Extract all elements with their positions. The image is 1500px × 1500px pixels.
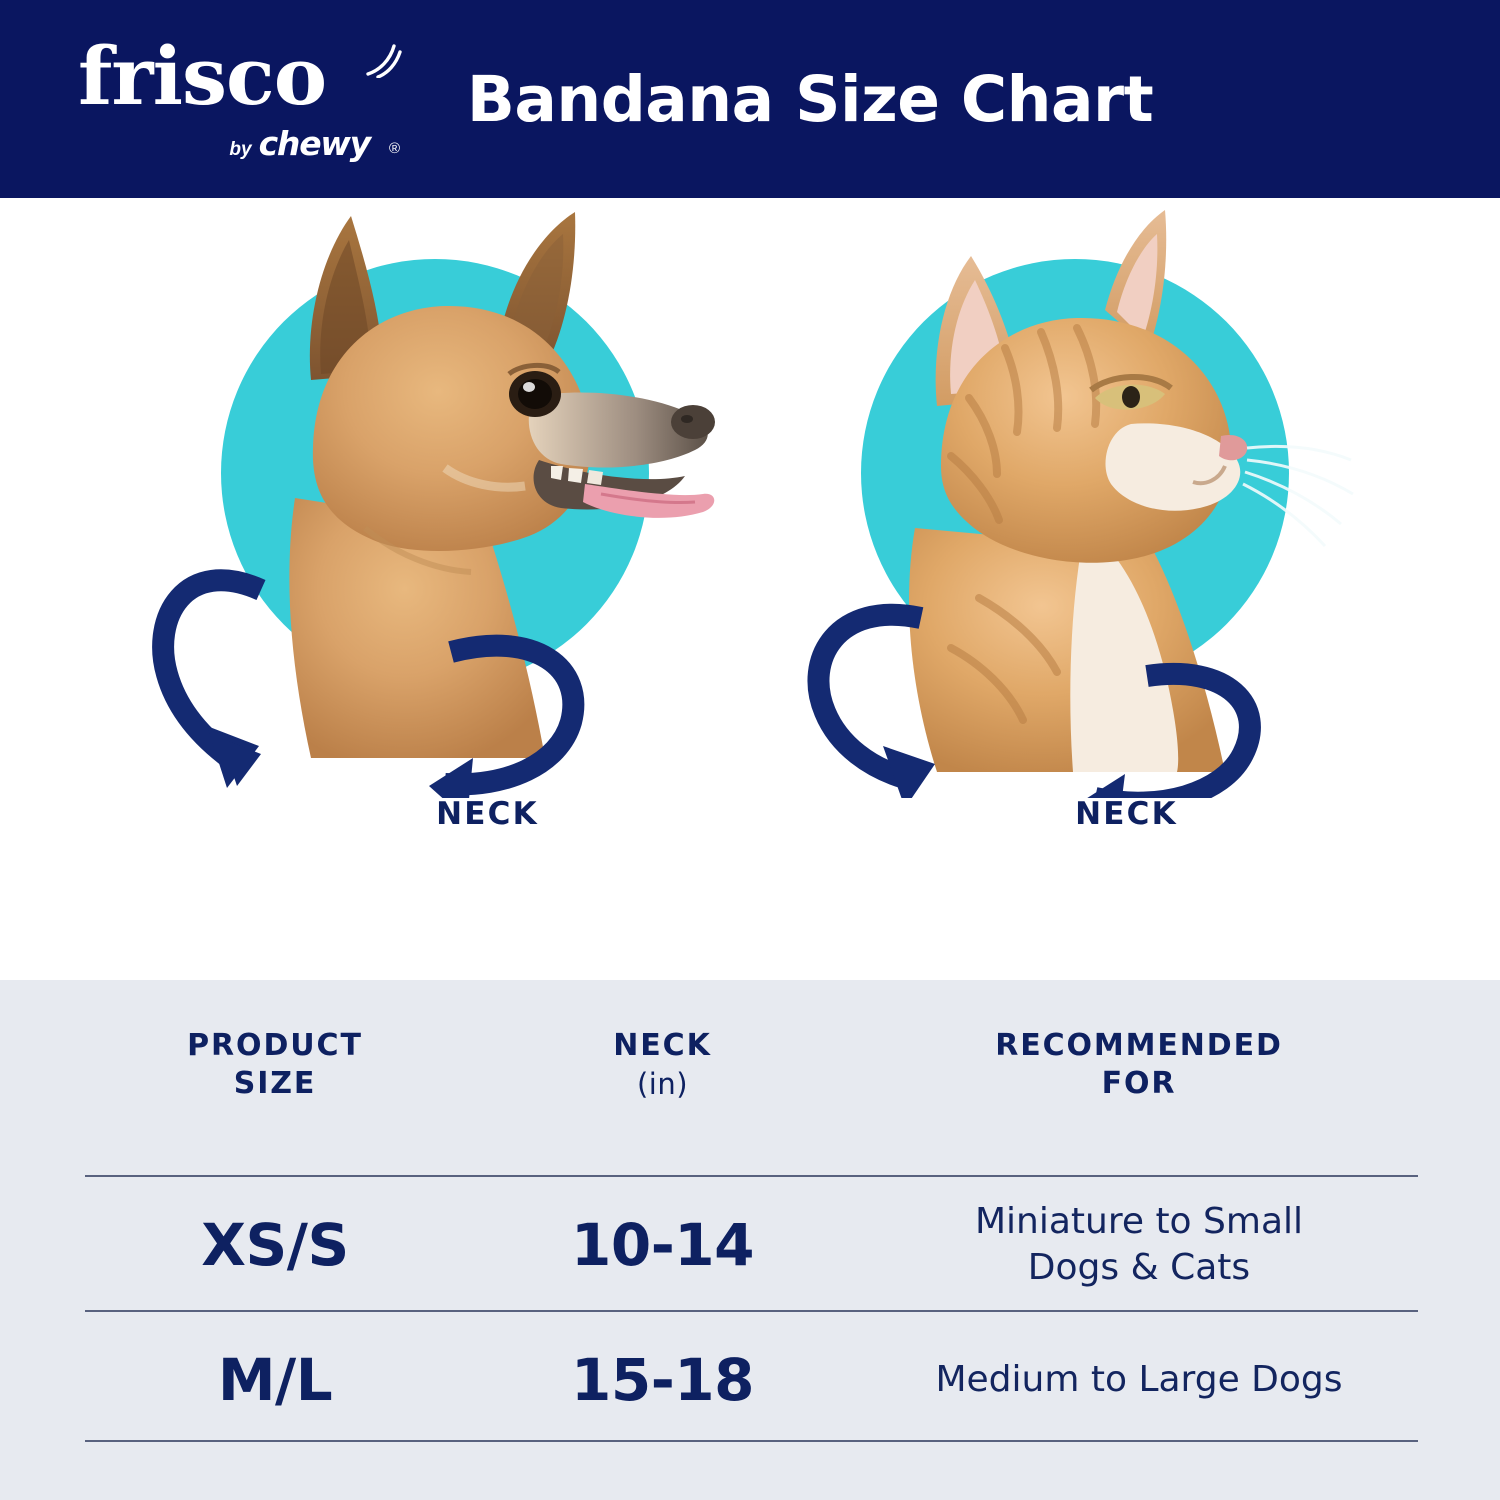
page-header: frisco ® by chewy Bandana Size Chart: [0, 0, 1500, 198]
cell-recommended-for-line1: Medium to Large Dogs: [935, 1357, 1342, 1403]
table-row: XS/S 10-14 Miniature to Small Dogs & Cat…: [0, 1185, 1500, 1305]
cat-stage: [755, 198, 1395, 798]
table-divider-top: [85, 1175, 1418, 1177]
dog-stage: [115, 198, 755, 798]
column-header-recommended-for-line2: FOR: [1102, 1065, 1177, 1103]
column-header-neck-unit: (in): [637, 1066, 688, 1103]
table-divider-middle: [85, 1310, 1418, 1312]
column-header-neck-line1: NECK: [613, 1027, 711, 1065]
illustration-area: NECK: [0, 198, 1500, 980]
cat-measure-arrowhead-front: [1081, 774, 1125, 798]
column-header-recommended-for-line1: RECOMMENDED: [995, 1027, 1283, 1065]
cell-neck-range: 10-14: [465, 1185, 860, 1305]
cell-neck-range: 15-18: [465, 1320, 860, 1440]
cell-recommended-for: Medium to Large Dogs: [860, 1320, 1418, 1440]
dog-photo-illustration: [115, 198, 755, 798]
column-header-product-size: PRODUCT SIZE: [85, 1010, 465, 1120]
cell-recommended-for: Miniature to Small Dogs & Cats: [860, 1185, 1418, 1305]
size-table: PRODUCT SIZE NECK (in) RECOMMENDED FOR X…: [0, 980, 1500, 1500]
cell-recommended-for-line2: Dogs & Cats: [975, 1245, 1303, 1291]
size-chart-page: frisco ® by chewy Bandana Size Chart: [0, 0, 1500, 1500]
cat-measure-arrow-back: [818, 615, 921, 778]
column-header-product-size-line1: PRODUCT: [187, 1027, 363, 1065]
cell-product-size: XS/S: [85, 1185, 465, 1305]
dog-neck-label: NECK: [115, 796, 755, 832]
cat-photo-illustration: [755, 198, 1395, 798]
dog-measure-arrowhead-front: [429, 758, 473, 798]
table-divider-bottom: [85, 1440, 1418, 1442]
cat-neck-label: NECK: [755, 796, 1395, 832]
column-header-product-size-line2: SIZE: [234, 1065, 317, 1103]
pet-illustration-cat: NECK: [755, 198, 1395, 898]
column-header-neck: NECK (in): [465, 1010, 860, 1120]
page-title: Bandana Size Chart: [0, 0, 1500, 198]
table-header-row: PRODUCT SIZE NECK (in) RECOMMENDED FOR: [0, 1010, 1500, 1120]
column-header-recommended-for: RECOMMENDED FOR: [860, 1010, 1418, 1120]
cell-product-size: M/L: [85, 1320, 465, 1440]
pet-illustration-dog: NECK: [115, 198, 755, 898]
cell-recommended-for-line1: Miniature to Small: [975, 1199, 1303, 1245]
table-row: M/L 15-18 Medium to Large Dogs: [0, 1320, 1500, 1440]
